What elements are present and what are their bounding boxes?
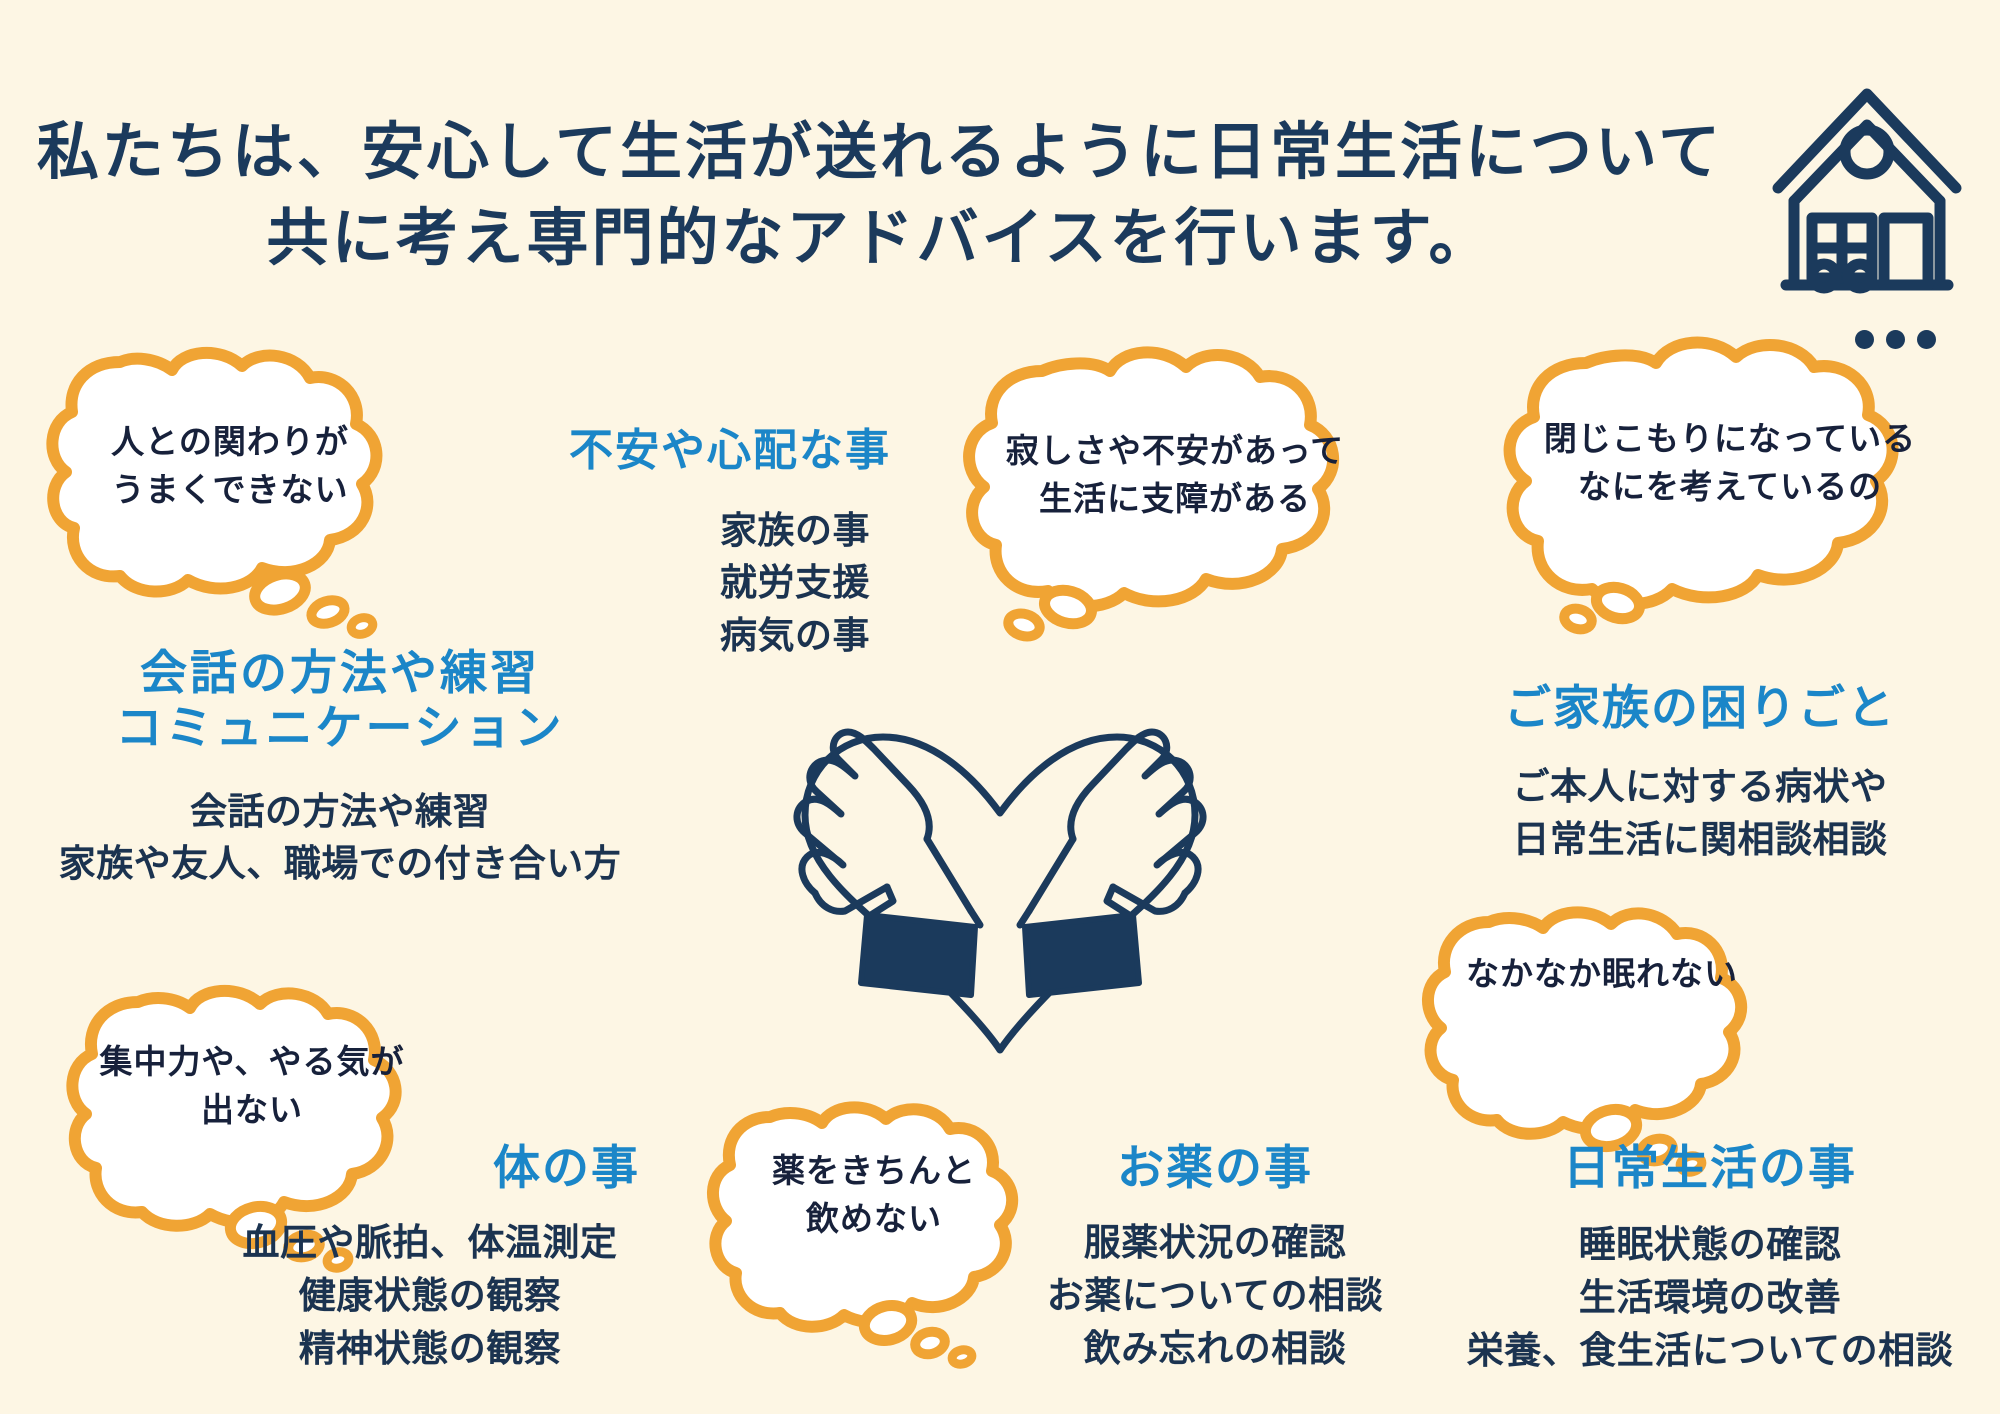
section-communication-body: 会話の方法や練習 家族や友人、職場での付き合い方 bbox=[20, 786, 660, 891]
section-communication-title: 会話の方法や練習 コミュニケーション bbox=[20, 645, 660, 756]
bubble-withdrawal: 閉じこもりになっている なにを考えているの bbox=[1490, 335, 1970, 605]
bubble-motivation-text: 集中力や、やる気が 出ない bbox=[52, 1038, 452, 1134]
bubble-sleep-text: なかなか眠れない bbox=[1407, 950, 1797, 998]
section-family: ご家族の困りごと ご本人に対する病状や 日常生活に関相談相談 bbox=[1390, 680, 2000, 867]
page-title-line-2: 共に考え専門的なアドバイスを行います。 bbox=[0, 196, 1760, 282]
page-title: 私たちは、安心して生活が送れるように日常生活について 共に考え専門的なアドバイス… bbox=[0, 110, 1760, 281]
section-dailylife-title: 日常生活の事 bbox=[1430, 1140, 1990, 1195]
bubble-withdrawal-text: 閉じこもりになっている なにを考えているの bbox=[1490, 415, 1970, 511]
section-family-title: ご家族の困りごと bbox=[1390, 680, 2000, 735]
bubble-loneliness-text: 寂しさや不安があって 生活に支障がある bbox=[950, 427, 1400, 523]
bubble-relationships-text: 人との関わりが うまくできない bbox=[20, 418, 440, 514]
section-anxiety-title: 不安や心配な事 bbox=[555, 425, 955, 477]
page-title-line-1: 私たちは、安心して生活が送れるように日常生活について bbox=[0, 110, 1760, 196]
section-communication: 会話の方法や練習 コミュニケーション 会話の方法や練習 家族や友人、職場での付き… bbox=[20, 645, 660, 891]
section-dailylife: 日常生活の事 睡眠状態の確認 生活環境の改善 栄養、食生活についての相談 bbox=[1430, 1140, 1990, 1377]
section-body: 体の事 血圧や脈拍、体温測定 健康状態の観察 精神状態の観察 bbox=[180, 1140, 680, 1375]
section-medicine: お薬の事 服薬状況の確認 お薬についての相談 飲み忘れの相談 bbox=[1000, 1140, 1430, 1375]
section-medicine-body: 服薬状況の確認 お薬についての相談 飲み忘れの相談 bbox=[1000, 1217, 1430, 1375]
bubble-relationships: 人との関わりが うまくできない bbox=[40, 340, 460, 600]
section-family-body: ご本人に対する病状や 日常生活に関相談相談 bbox=[1390, 761, 2000, 866]
section-anxiety-body: 家族の事 就労支援 病気の事 bbox=[555, 505, 955, 663]
bubble-loneliness: 寂しさや不安があって 生活に支障がある bbox=[950, 345, 1400, 605]
section-dailylife-body: 睡眠状態の確認 生活環境の改善 栄養、食生活についての相談 bbox=[1430, 1219, 1990, 1377]
heart-in-hands-icon bbox=[775, 715, 1225, 1080]
section-anxiety: 不安や心配な事 家族の事 就労支援 病気の事 bbox=[555, 425, 955, 663]
section-body-body: 血圧や脈拍、体温測定 健康状態の観察 精神状態の観察 bbox=[180, 1217, 680, 1375]
poster-canvas: 私たちは、安心して生活が送れるように日常生活について 共に考え専門的なアドバイス… bbox=[0, 0, 2000, 1414]
section-body-title: 体の事 bbox=[180, 1140, 680, 1195]
section-medicine-title: お薬の事 bbox=[1000, 1140, 1430, 1195]
house-icon bbox=[1772, 70, 1962, 300]
bubble-sleep: なかなか眠れない bbox=[1415, 900, 1805, 1130]
